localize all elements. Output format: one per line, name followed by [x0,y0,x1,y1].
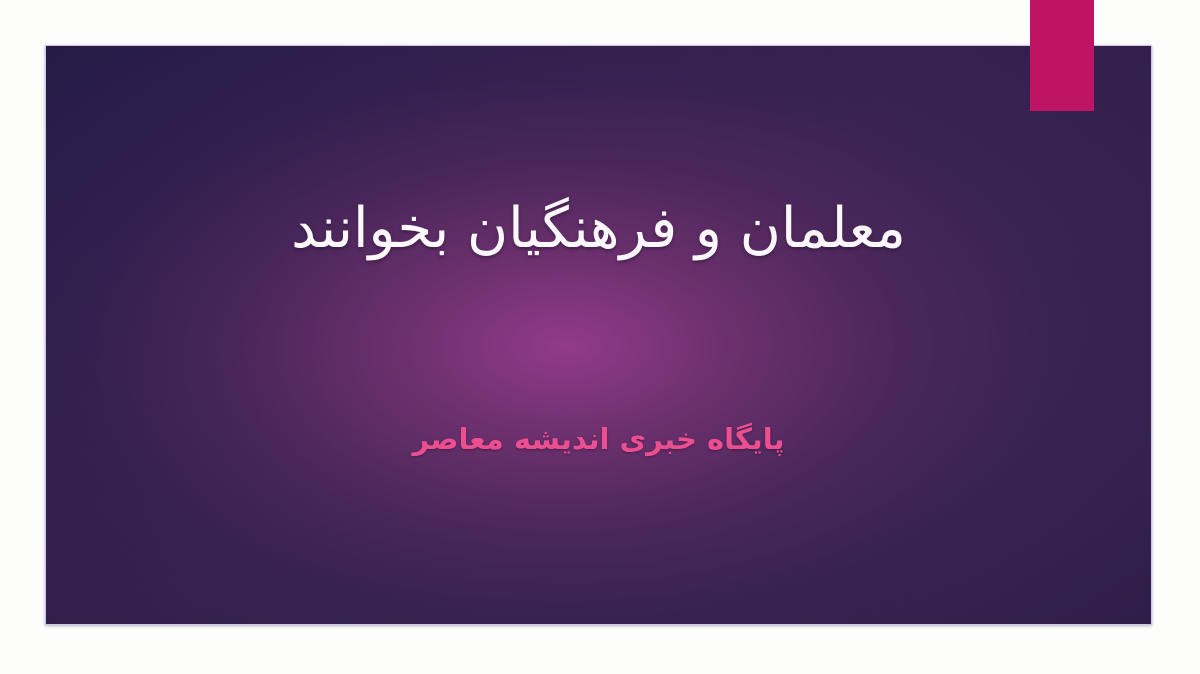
page-title: معلمان و فرهنگیان بخوانند [46,194,1151,264]
slide-viewer: معلمان و فرهنگیان بخوانند پایگاه خبری ان… [0,0,1200,674]
slide-text-layer: معلمان و فرهنگیان بخوانند پایگاه خبری ان… [46,46,1151,624]
magenta-accent-bar [1030,0,1094,111]
slide-subtitle: پایگاه خبری اندیشه معاصر [46,421,1151,459]
presentation-slide[interactable]: معلمان و فرهنگیان بخوانند پایگاه خبری ان… [45,45,1152,625]
